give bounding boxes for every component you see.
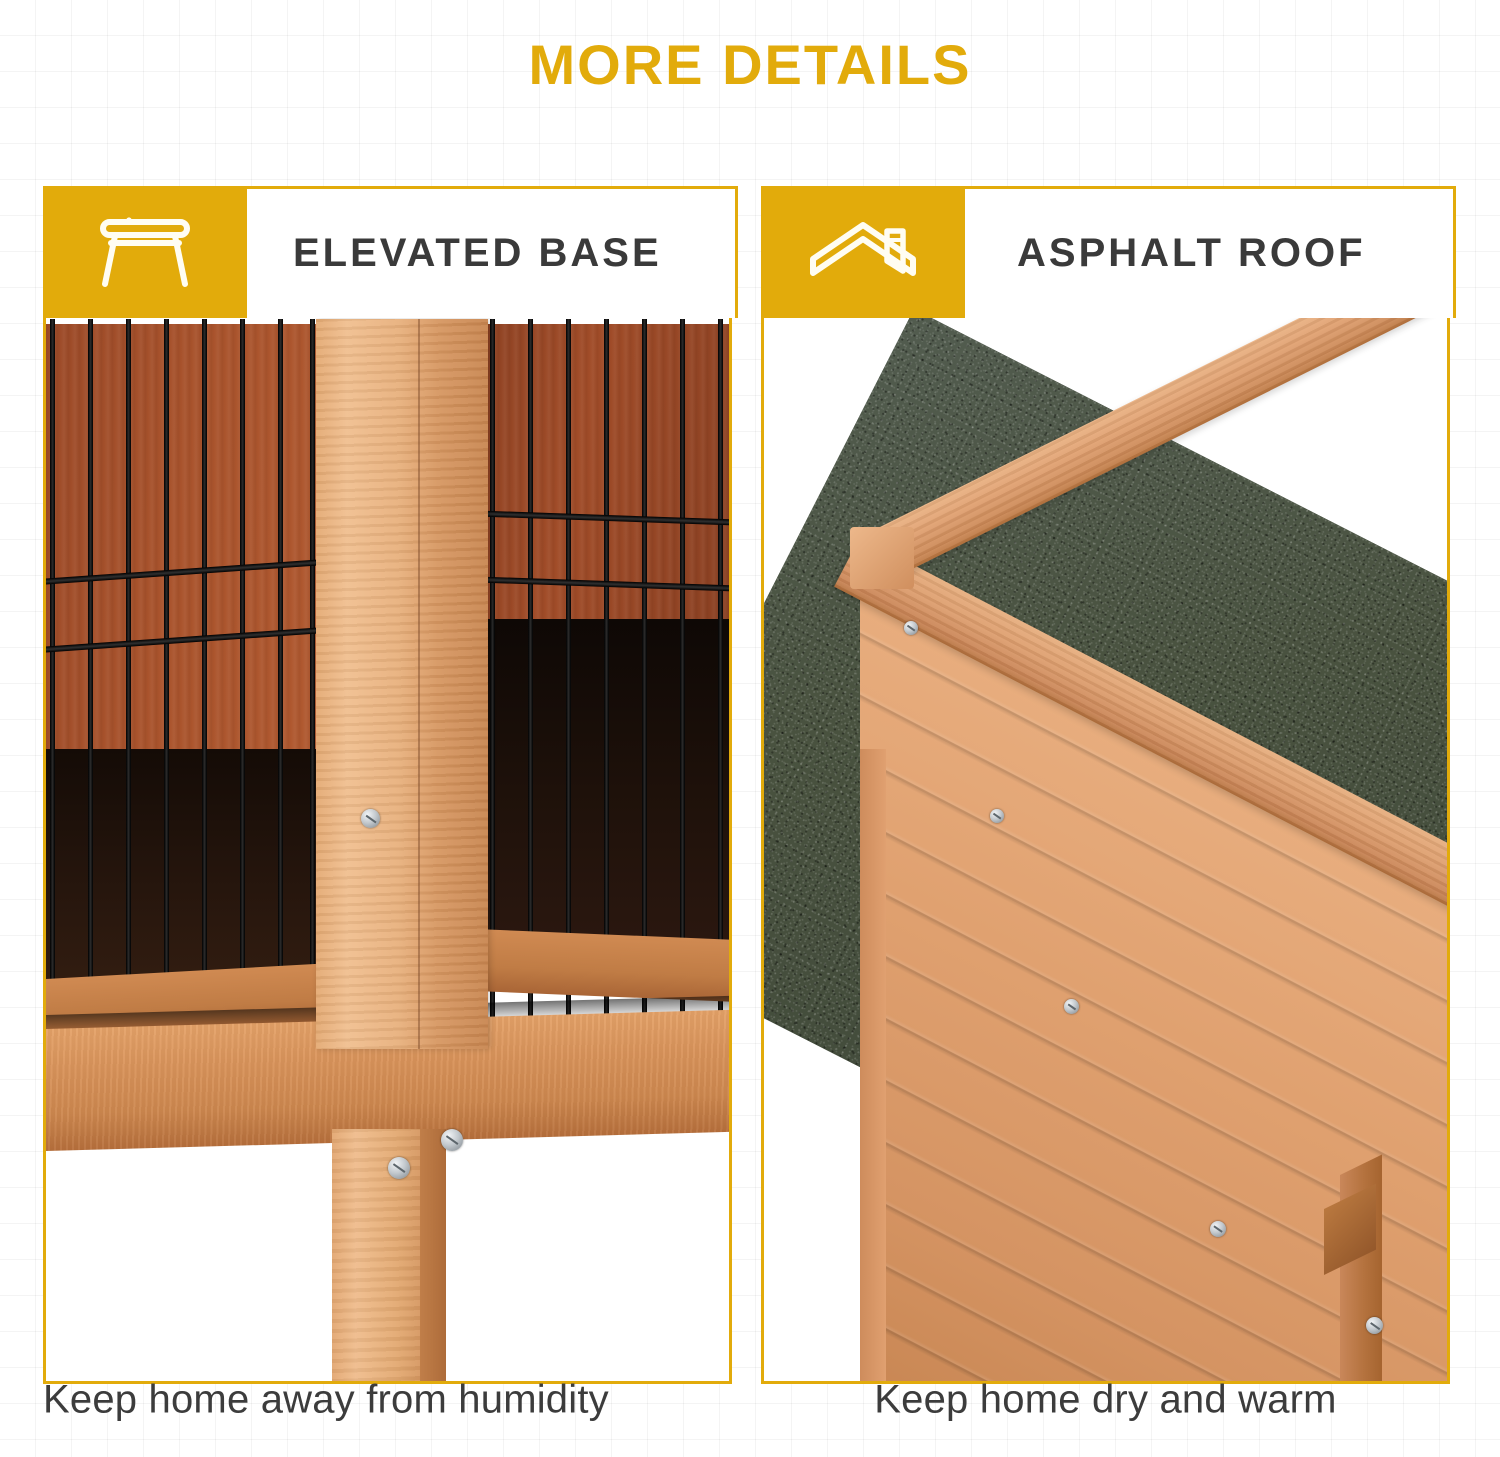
screw-roof-trim-mid <box>990 809 1004 823</box>
panel-heading-asphalt-roof: ASPHALT ROOF <box>965 186 1456 318</box>
table-legs-icon <box>43 186 247 318</box>
roof-chimney-icon <box>761 186 965 318</box>
screw-corner-top <box>1366 1317 1383 1334</box>
product-photo-asphalt-roof <box>764 189 1447 1381</box>
screw-roof-trim-left <box>904 621 918 635</box>
feature-panel-elevated-base: ELEVATED BASE <box>43 186 732 1384</box>
caption-asphalt-roof: Keep home dry and warm <box>761 1378 1450 1423</box>
screw-on-post <box>361 809 380 828</box>
panel-header-elevated-base: ELEVATED BASE <box>43 186 738 318</box>
post-seam-line <box>418 319 420 1049</box>
panel-header-asphalt-roof: ASPHALT ROOF <box>761 186 1456 318</box>
wire-mesh-right <box>484 319 729 1019</box>
feature-panel-asphalt-roof: ASPHALT ROOF <box>761 186 1450 1384</box>
infographic-page: MORE DETAILS <box>0 0 1500 1457</box>
hutch-floor-rail-right <box>476 929 729 1002</box>
panel-heading-elevated-base: ELEVATED BASE <box>247 186 738 318</box>
roof-trim-corner-cap <box>850 527 914 589</box>
product-photo-elevated-base <box>46 189 729 1381</box>
screw-front-wall-upper <box>1064 999 1079 1014</box>
elevated-leg-side-face <box>420 1129 446 1381</box>
page-title: MORE DETAILS <box>0 34 1500 96</box>
screw-front-wall-mid <box>1210 1221 1226 1237</box>
wire-mesh-left <box>46 319 318 1049</box>
screw-on-beam-upper <box>441 1129 463 1151</box>
front-wall-left-edge <box>860 749 886 1381</box>
hutch-corner-post <box>316 319 488 1049</box>
screw-on-beam-lower <box>388 1157 410 1179</box>
caption-elevated-base: Keep home away from humidity <box>43 1378 732 1423</box>
